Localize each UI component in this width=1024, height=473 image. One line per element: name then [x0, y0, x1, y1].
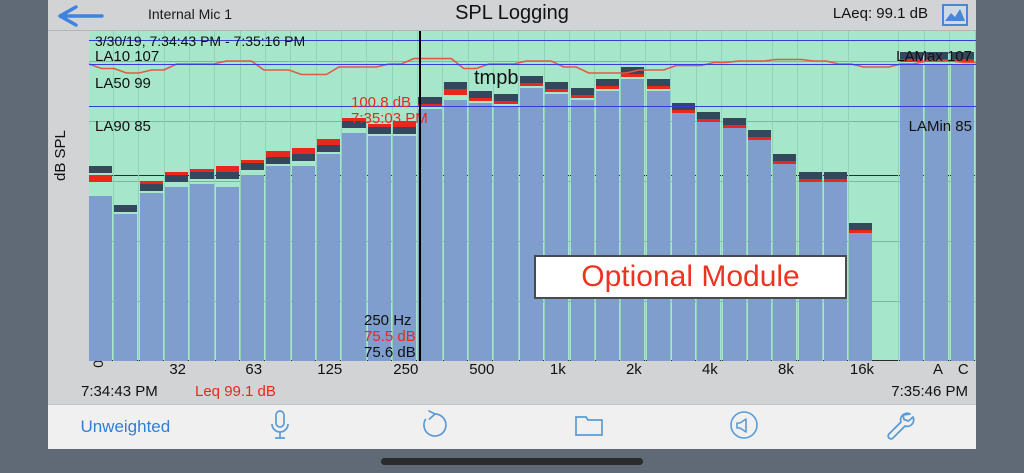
- x-tick-label: 125: [317, 361, 342, 378]
- time-start-label: 7:34:43 PM: [81, 383, 158, 400]
- date-range-label: 3/30/19, 7:34:43 PM - 7:35:16 PM: [95, 33, 305, 49]
- x-tick-label: 32: [169, 361, 186, 378]
- timeline-peak-time: 7:35:03 PM: [351, 110, 428, 127]
- lamin-label: LAMin 85: [909, 118, 972, 135]
- la10-label: LA10 107: [95, 48, 159, 65]
- optional-module-badge: Optional Module: [534, 255, 847, 299]
- x-tick-label: 1k: [550, 361, 566, 378]
- series-name-label: tmpb: [474, 67, 518, 90]
- stat-line-la50: [89, 64, 976, 65]
- cursor-value-black: 75.6 dB: [364, 344, 416, 361]
- stat-line-la90: [89, 106, 976, 107]
- x-tick-label: 8k: [778, 361, 794, 378]
- home-indicator: [381, 458, 643, 465]
- x-tick-label: 500: [469, 361, 494, 378]
- x-tick-label: A: [933, 361, 943, 378]
- x-axis-ticks: 32631252505001k2k4k8k16kACZ: [89, 361, 976, 383]
- x-tick-label: 250: [393, 361, 418, 378]
- wrench-icon: [883, 409, 915, 446]
- plot-canvas[interactable]: 3/30/19, 7:34:43 PM - 7:35:16 PM LA10 10…: [89, 31, 976, 361]
- lamax-label: LAMax 107: [896, 48, 972, 65]
- time-end-label: 7:35:46 PM: [891, 383, 968, 400]
- spectrum-plot-area: dB SPL 020406080100 3/30/19, 7:34:43 PM …: [48, 31, 976, 396]
- toolbar-item-microphone[interactable]: [203, 405, 358, 449]
- cursor-frequency: 250 Hz: [364, 312, 412, 329]
- x-tick-label: 4k: [702, 361, 718, 378]
- x-tick-label: 63: [245, 361, 262, 378]
- cursor-line[interactable]: [419, 31, 421, 361]
- chart-image-icon[interactable]: [942, 4, 968, 26]
- microphone-icon: [267, 409, 293, 446]
- toolbar-item-reset[interactable]: [357, 405, 512, 449]
- speaker-circle-icon: [728, 409, 760, 446]
- timeline-peak-db: 100.8 dB: [351, 94, 411, 111]
- laeq-readout: LAeq: 99.1 dB: [833, 5, 928, 22]
- x-tick-label: 2k: [626, 361, 642, 378]
- screen: Internal Mic 1 SPL Logging LAeq: 99.1 dB…: [0, 0, 1024, 473]
- x-tick-label: C: [958, 361, 969, 378]
- toolbar-item-calibrate[interactable]: [667, 405, 822, 449]
- toolbar-item-weighting[interactable]: Unweighted: [48, 405, 203, 449]
- la50-label: LA50 99: [95, 75, 151, 92]
- app-header: Internal Mic 1 SPL Logging LAeq: 99.1 dB: [48, 0, 976, 31]
- x-tick-label: 16k: [850, 361, 874, 378]
- cursor-value-red: 75.5 dB: [364, 328, 416, 345]
- toolbar-item-files[interactable]: [512, 405, 667, 449]
- la90-label: LA90 85: [95, 118, 151, 135]
- weighting-label: Unweighted: [80, 417, 170, 437]
- undo-arrow-icon: [420, 410, 450, 445]
- time-span-row: 7:34:43 PM Leq 99.1 dB 7:35:46 PM: [48, 383, 976, 405]
- timeline-trace: [89, 31, 976, 361]
- folder-icon: [574, 412, 604, 443]
- toolbar-item-settings[interactable]: [821, 405, 976, 449]
- app-window: Internal Mic 1 SPL Logging LAeq: 99.1 dB…: [48, 0, 976, 449]
- bottom-toolbar: Unweighted: [48, 404, 976, 449]
- leq-label: Leq 99.1 dB: [195, 383, 276, 400]
